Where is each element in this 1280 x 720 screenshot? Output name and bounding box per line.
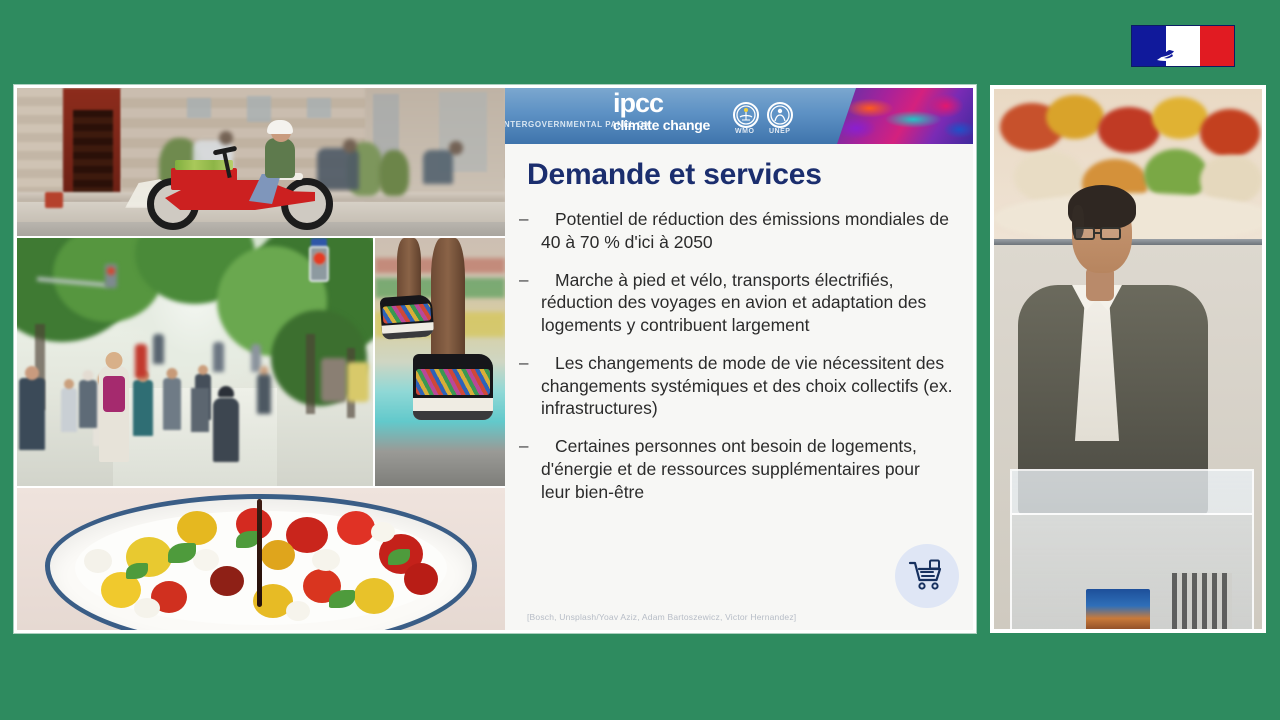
salad-bowl bbox=[45, 494, 477, 630]
shopping-cart-icon bbox=[908, 559, 946, 593]
bullet-text: Certaines personnes ont besoin de logeme… bbox=[541, 435, 953, 503]
bullet-marker: – bbox=[519, 269, 541, 337]
unep-logo bbox=[767, 102, 793, 128]
bullet-item: – Certaines personnes ont besoin de loge… bbox=[519, 435, 953, 503]
glasses-right-lens bbox=[1100, 227, 1121, 240]
bullet-item: – Les changements de mode de vie nécessi… bbox=[519, 352, 953, 420]
podium-surface bbox=[1012, 471, 1252, 515]
wmo-caption: WMO bbox=[735, 128, 754, 135]
podium bbox=[1010, 469, 1254, 629]
bullet-marker: – bbox=[519, 435, 541, 503]
wmo-logo bbox=[733, 102, 759, 128]
bullet-text: Marche à pied et vélo, transports électr… bbox=[541, 269, 953, 337]
photo-credits: [Bosch, Unsplash/Yoav Aziz, Adam Bartosz… bbox=[527, 612, 913, 622]
slide-bullet-list: – Potentiel de réduction des émissions m… bbox=[519, 208, 973, 518]
slide-title: Demande et services bbox=[527, 158, 973, 192]
speaker-hair bbox=[1068, 185, 1136, 229]
bullet-marker: – bbox=[519, 352, 541, 420]
ipcc-tagline: climate change bbox=[613, 118, 710, 132]
bullet-item: – Marche à pied et vélo, transports élec… bbox=[519, 269, 953, 337]
photo-cargo-bike bbox=[17, 88, 505, 236]
traffic-light-icon bbox=[309, 246, 329, 282]
bullet-text: Les changements de mode de vie nécessite… bbox=[541, 352, 953, 420]
shopping-cart-badge bbox=[895, 544, 959, 608]
sneaker-back bbox=[380, 294, 435, 340]
photo-pedestrian-street bbox=[17, 238, 373, 486]
ipcc-wordmark: ipcc bbox=[613, 90, 663, 117]
abstract-climate-artwork bbox=[837, 88, 973, 144]
photo-salad bbox=[17, 488, 505, 630]
slide-photo-collage bbox=[17, 88, 505, 630]
podium-laptop bbox=[1086, 589, 1150, 631]
glasses-bridge bbox=[1095, 232, 1101, 234]
marianne-profile-icon bbox=[1156, 28, 1202, 66]
cargo-bike-illustration bbox=[147, 130, 333, 230]
glasses-left-lens bbox=[1074, 227, 1095, 240]
ipcc-header-banner: INTERGOVERNMENTAL PANEL ON ipcc climate … bbox=[505, 88, 973, 144]
slide-text-content: INTERGOVERNMENTAL PANEL ON ipcc climate … bbox=[505, 88, 973, 630]
photo-sneakers bbox=[375, 238, 505, 486]
presentation-slide-panel: INTERGOVERNMENTAL PANEL ON ipcc climate … bbox=[14, 85, 976, 633]
bullet-text: Potentiel de réduction des émissions mon… bbox=[541, 208, 953, 254]
speaker-video-panel bbox=[990, 85, 1266, 633]
conference-room-scene bbox=[994, 89, 1262, 629]
equipment-box bbox=[1172, 573, 1232, 629]
french-republic-marianne-logo bbox=[1131, 25, 1235, 67]
flag-red-band bbox=[1200, 26, 1234, 66]
unep-caption: UNEP bbox=[769, 128, 790, 135]
bullet-marker: – bbox=[519, 208, 541, 254]
sneaker-front bbox=[413, 354, 493, 420]
bullet-item: – Potentiel de réduction des émissions m… bbox=[519, 208, 953, 254]
flag-white-band bbox=[1166, 26, 1200, 66]
